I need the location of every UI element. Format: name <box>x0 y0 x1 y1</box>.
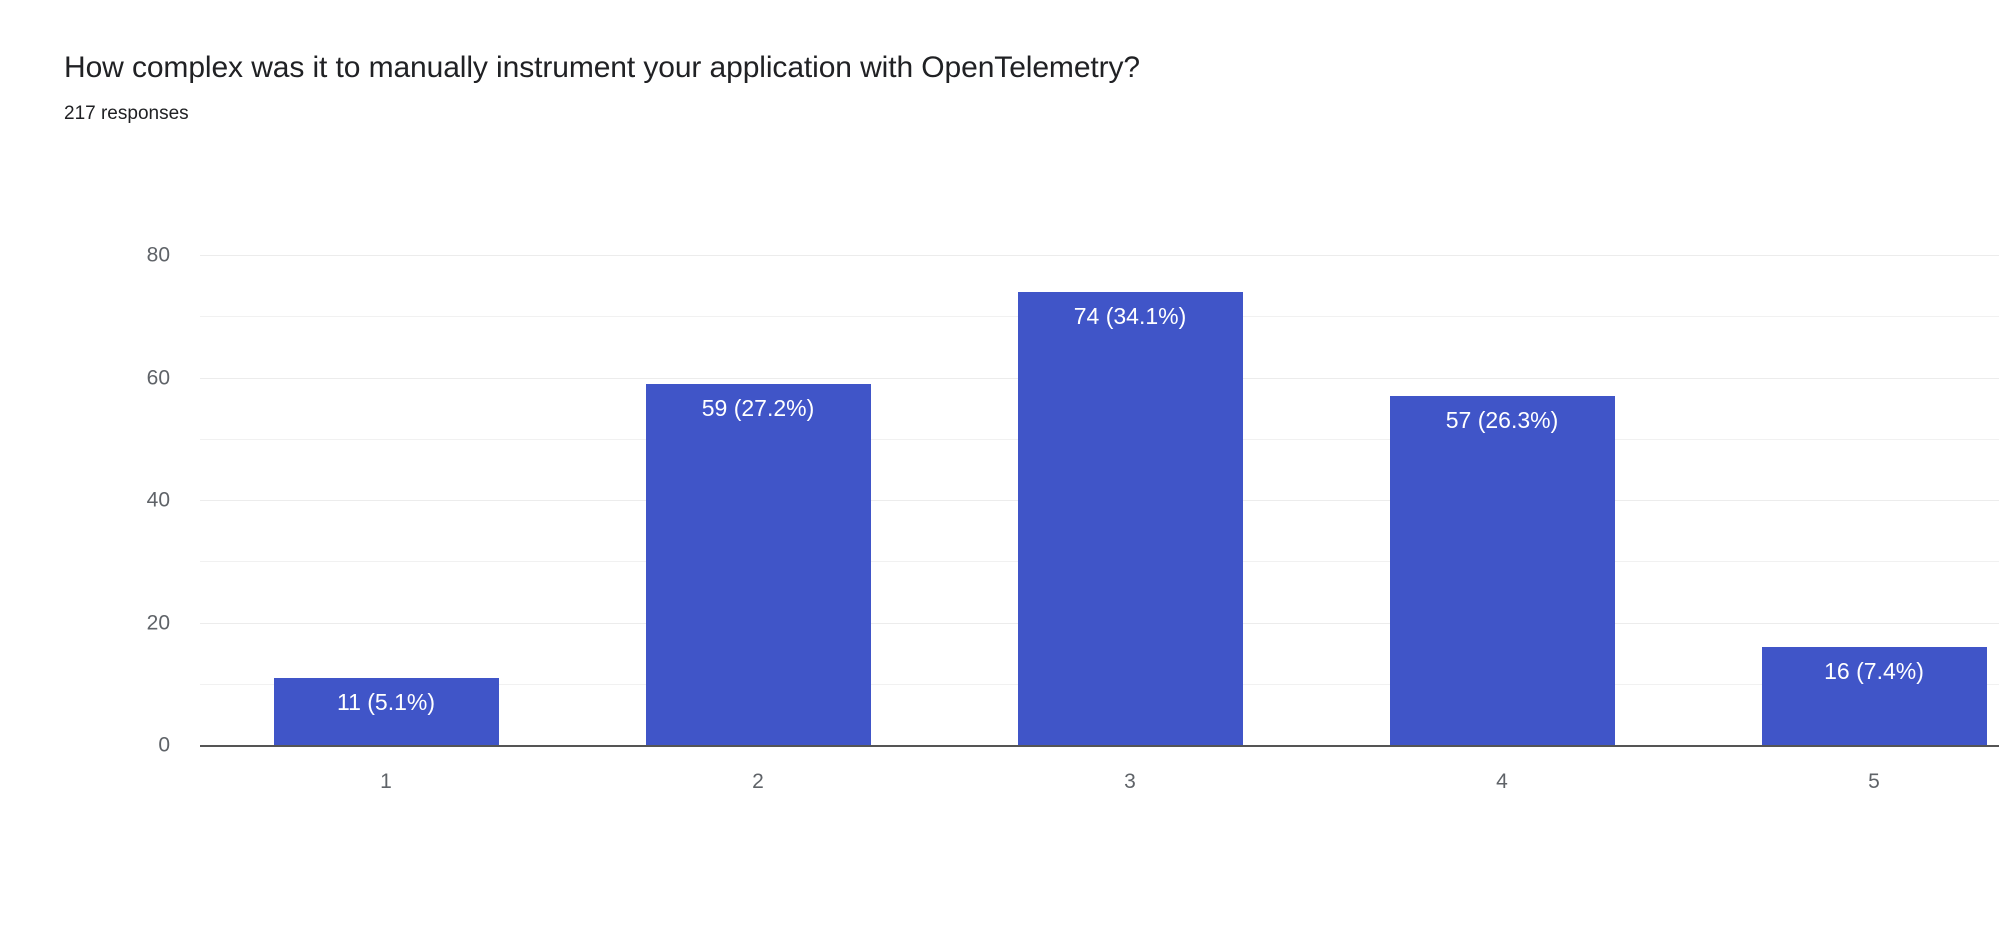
y-axis: 020406080 <box>0 0 170 951</box>
bar-value-label: 11 (5.1%) <box>274 688 499 716</box>
y-axis-tick-label: 20 <box>10 612 170 633</box>
bar-value-label: 16 (7.4%) <box>1762 657 1987 685</box>
bar-chart: 020406080 12345 11 (5.1%)59 (27.2%)74 (3… <box>0 0 1999 951</box>
bar[interactable]: 59 (27.2%) <box>646 384 871 745</box>
x-axis-tick-label: 5 <box>1868 770 1880 794</box>
x-axis-tick-label: 2 <box>752 770 764 794</box>
bar-value-label: 59 (27.2%) <box>646 394 871 422</box>
x-axis-tick-label: 4 <box>1496 770 1508 794</box>
bar-value-label: 57 (26.3%) <box>1390 406 1615 434</box>
bar[interactable]: 57 (26.3%) <box>1390 396 1615 745</box>
bar[interactable]: 74 (34.1%) <box>1018 292 1243 745</box>
y-axis-tick-label: 0 <box>10 735 170 756</box>
bars-layer: 11 (5.1%)59 (27.2%)74 (34.1%)57 (26.3%)1… <box>200 255 1999 745</box>
bar[interactable]: 16 (7.4%) <box>1762 647 1987 745</box>
bar-value-label: 74 (34.1%) <box>1018 302 1243 330</box>
x-axis-tick-label: 1 <box>380 770 392 794</box>
bar[interactable]: 11 (5.1%) <box>274 678 499 745</box>
chart-page: How complex was it to manually instrumen… <box>0 0 1999 951</box>
x-axis-line <box>200 745 1999 747</box>
x-axis-tick-label: 3 <box>1124 770 1136 794</box>
y-axis-tick-label: 80 <box>10 245 170 266</box>
y-axis-tick-label: 60 <box>10 367 170 388</box>
y-axis-tick-label: 40 <box>10 490 170 511</box>
